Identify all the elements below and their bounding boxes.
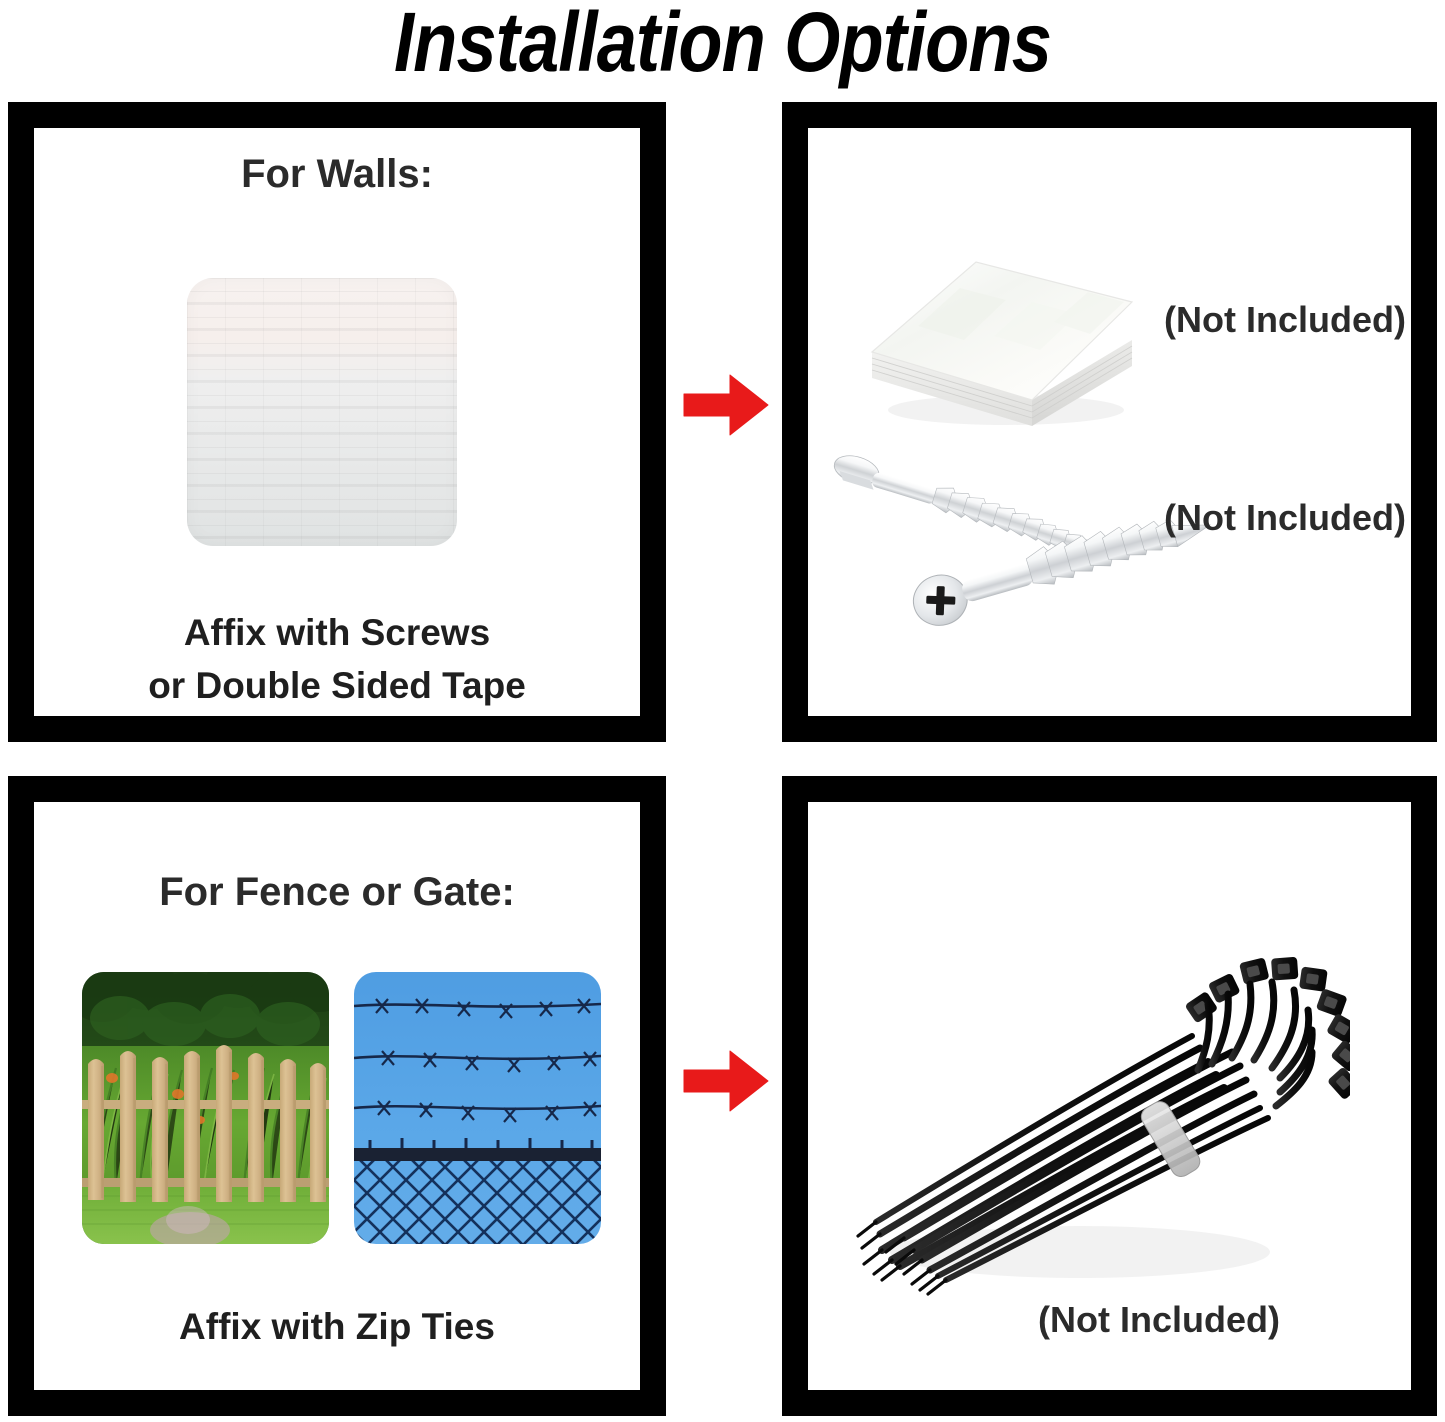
panel-zip-ties: (Not Included)	[782, 776, 1437, 1416]
installation-options-infographic: Installation Options For Walls: Affix wi…	[0, 0, 1445, 1422]
chain-link-barbed-wire-fence-image	[354, 972, 601, 1244]
wooden-picket-fence-image	[82, 972, 329, 1244]
page-title: Installation Options	[101, 0, 1344, 88]
red-right-arrow-icon-bottom	[682, 1048, 770, 1114]
walls-caption-line-1: Affix with Screws	[34, 608, 640, 658]
fence-caption: Affix with Zip Ties	[34, 1302, 640, 1352]
double-sided-tape-stack-image	[856, 240, 1146, 435]
zipties-not-included-label: (Not Included)	[1038, 1298, 1280, 1342]
panel-wall-hardware: (Not Included)	[782, 102, 1437, 742]
fence-heading: For Fence or Gate:	[34, 868, 640, 916]
red-right-arrow-icon-top	[682, 372, 770, 438]
panel-for-fence-or-gate-content: For Fence or Gate:	[34, 802, 640, 1390]
walls-caption-line-2: or Double Sided Tape	[34, 661, 640, 711]
panel-for-walls: For Walls: Affix with Screws or Double S…	[8, 102, 666, 742]
black-zip-tie-bundle-image	[830, 912, 1350, 1312]
panel-for-walls-content: For Walls: Affix with Screws or Double S…	[34, 128, 640, 716]
panel-for-fence-or-gate: For Fence or Gate:	[8, 776, 666, 1416]
white-brick-wall-image	[187, 278, 457, 546]
panel-zip-ties-content: (Not Included)	[808, 802, 1411, 1390]
walls-heading: For Walls:	[34, 150, 640, 198]
screws-not-included-label: (Not Included)	[1164, 496, 1406, 540]
tape-not-included-label: (Not Included)	[1164, 298, 1406, 342]
panel-wall-hardware-content: (Not Included)	[808, 128, 1411, 716]
